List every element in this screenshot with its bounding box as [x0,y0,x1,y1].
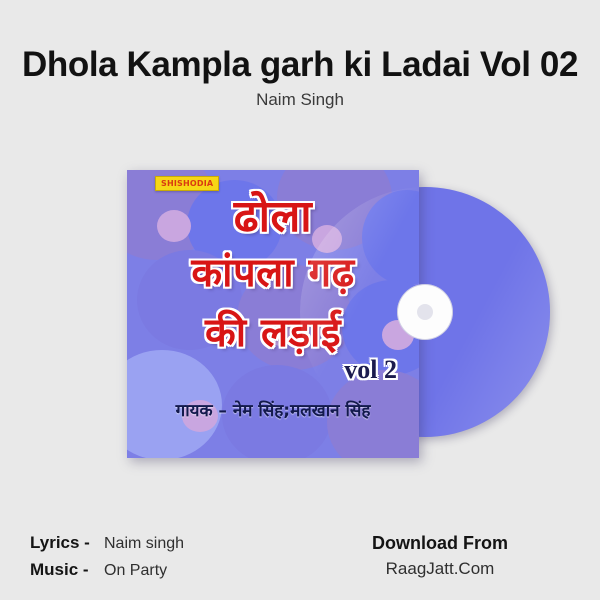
cover-hindi-line-3: की लड़ाई [127,310,419,356]
cover-singer-credit: गायक – नेम सिंह;मलखान सिंह [127,398,419,421]
cd-center-hole [417,304,433,320]
artwork-stage: ढोला कांपला गढ़ की लड़ाई vol 2 गायक – ने… [0,150,600,480]
album-art-page: Dhola Kampla garh ki Ladai Vol 02 Naim S… [0,0,600,600]
credit-row-lyrics: Lyrics - Naim singh [30,530,184,557]
footer: Lyrics - Naim singh Music - On Party Dow… [0,520,600,600]
cover-hindi-line-1: ढोला [127,192,419,242]
album-cover: SHISHODIA ढोला कांपला गढ़ की लड़ाई vol 2… [127,170,419,458]
record-label-text: SHISHODIA [161,179,213,189]
download-block: Download From RaagJatt.Com [310,530,570,582]
page-title: Dhola Kampla garh ki Ladai Vol 02 [22,44,578,86]
cover-volume-badge: vol 2 [344,355,397,385]
lyrics-label: Lyrics - [30,530,104,556]
record-label-badge: SHISHODIA [155,176,219,191]
music-value: On Party [104,558,167,584]
lyrics-value: Naim singh [104,531,184,557]
artist-name: Naim Singh [0,88,600,112]
credit-row-music: Music - On Party [30,557,184,584]
music-label: Music - [30,557,104,583]
download-site-name[interactable]: RaagJatt.Com [310,556,570,582]
download-from-label: Download From [310,530,570,556]
credits-block: Lyrics - Naim singh Music - On Party [30,530,184,584]
cover-hindi-line-2: कांपला गढ़ [127,250,419,296]
cover-text-group: ढोला कांपला गढ़ की लड़ाई vol 2 गायक – ने… [127,170,419,458]
